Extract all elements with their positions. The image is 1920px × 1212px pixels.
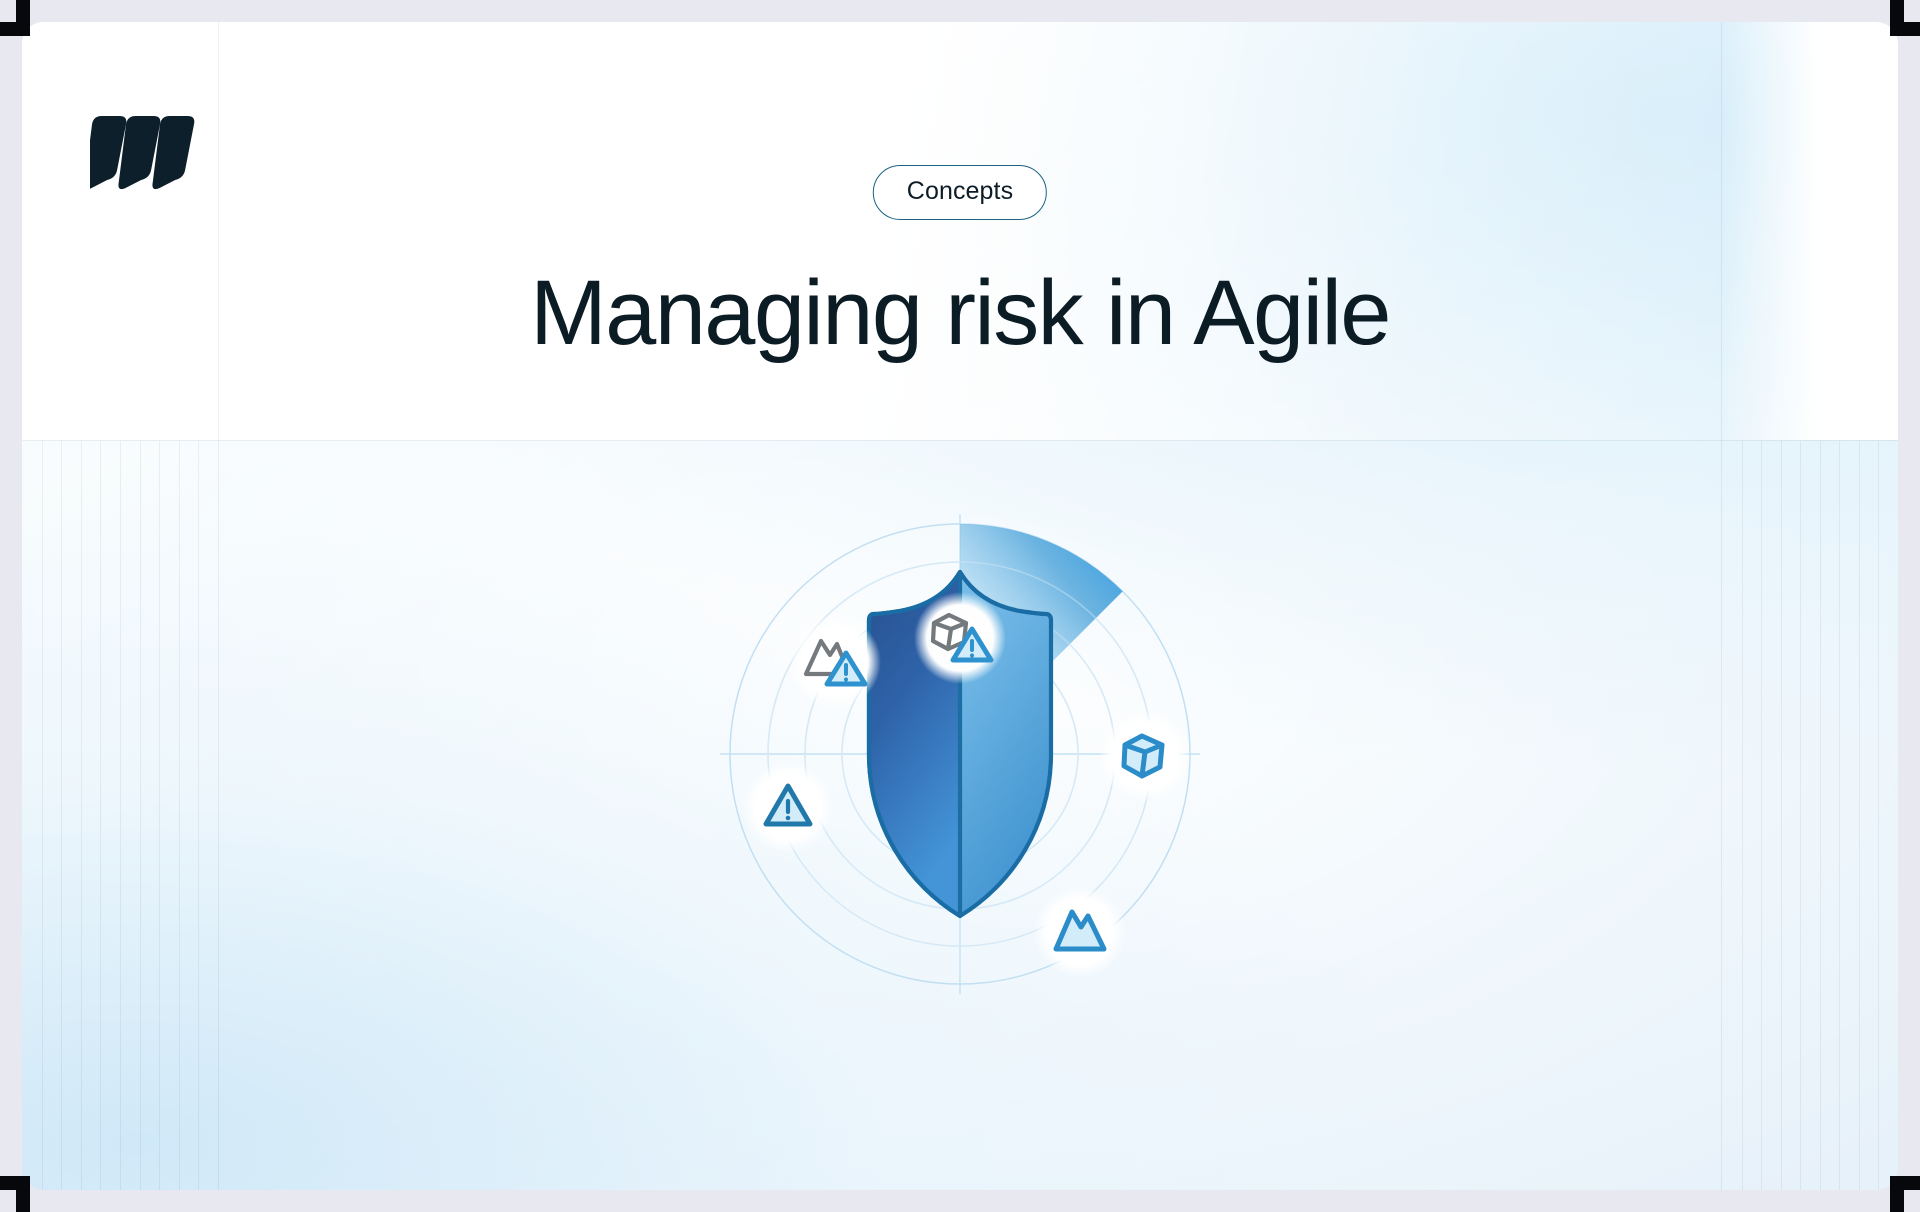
marker-mountain	[1034, 886, 1126, 978]
marker-warning	[742, 761, 834, 853]
pinstripe	[42, 441, 43, 1190]
pinstripe	[1800, 441, 1801, 1190]
header-left-gutter	[22, 22, 218, 440]
marker-cube-warning	[914, 592, 1006, 684]
marker-mountain-warning	[789, 616, 881, 708]
page-root: Concepts Managing risk in Agile	[0, 0, 1920, 1212]
pinstripe	[140, 441, 141, 1190]
pinstripe	[179, 441, 180, 1190]
crop-mark-bottom-left-vertical	[16, 1182, 30, 1212]
pinstripe	[1859, 441, 1860, 1190]
page-title: Managing risk in Agile	[22, 264, 1898, 363]
eyebrow-badge[interactable]: Concepts	[873, 165, 1047, 220]
frame-rule-left	[218, 22, 219, 1190]
header-band	[22, 22, 1898, 440]
crop-mark-top-right-vertical	[1890, 0, 1904, 30]
pinstripe	[61, 441, 62, 1190]
pinstripe	[1742, 441, 1743, 1190]
crop-mark-bottom-right-vertical	[1890, 1182, 1904, 1212]
pinstripe	[81, 441, 82, 1190]
pinstripe	[1878, 441, 1879, 1190]
pinstripe	[1761, 441, 1762, 1190]
frame-rule-horizontal	[22, 440, 1898, 441]
pinstripe	[159, 441, 160, 1190]
pinstripe	[100, 441, 101, 1190]
content-card: Concepts Managing risk in Agile	[22, 22, 1898, 1190]
marker-cube	[1099, 710, 1191, 802]
pinstripe-gutter-right	[1722, 441, 1898, 1190]
pinstripe-gutter-left	[22, 441, 218, 1190]
pinstripe	[198, 441, 199, 1190]
eyebrow-badge-label: Concepts	[907, 177, 1013, 205]
pinstripe	[1839, 441, 1840, 1190]
header-right-gutter	[1722, 22, 1898, 440]
risk-radar-illustration	[660, 454, 1260, 1054]
pinstripe	[120, 441, 121, 1190]
pinstripe	[1781, 441, 1782, 1190]
crop-mark-top-left-vertical	[16, 0, 30, 30]
pinstripe	[1820, 441, 1821, 1190]
brand-logo[interactable]	[90, 114, 202, 192]
